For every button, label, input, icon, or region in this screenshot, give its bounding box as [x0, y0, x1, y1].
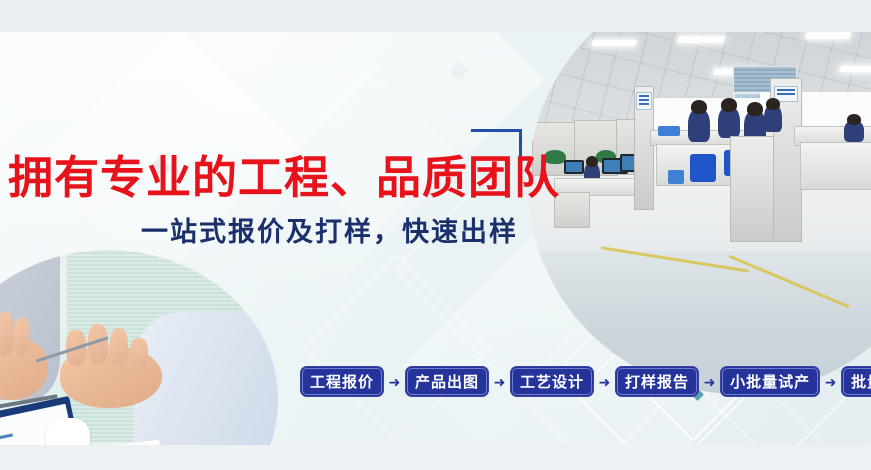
process-step-4[interactable]: 打样报告 [615, 366, 699, 397]
bottom-band [0, 445, 871, 470]
promo-banner: 拥有专业的工程、品质团队 一站式报价及打样，快速出样 工程报价 ➜ 产品出图 ➜… [0, 0, 871, 470]
office-workstations-photo [528, 32, 871, 394]
process-step-6[interactable]: 批量量产 [841, 366, 871, 397]
process-step-1[interactable]: 工程报价 [300, 366, 384, 397]
process-step-3[interactable]: 工艺设计 [510, 366, 594, 397]
flow-arrow-icon-4: ➜ [703, 375, 716, 388]
process-step-1-label: 工程报价 [310, 371, 374, 392]
process-step-3-label: 工艺设计 [520, 371, 584, 392]
business-meeting-photo [0, 250, 278, 445]
flow-arrow-icon-2: ➜ [493, 375, 506, 388]
top-band [0, 0, 871, 32]
flow-arrow-icon-3: ➜ [598, 375, 611, 388]
process-step-2-label: 产品出图 [415, 371, 479, 392]
coffee-cup [46, 418, 90, 445]
flow-arrow-icon-1: ➜ [388, 375, 401, 388]
process-step-5[interactable]: 小批量试产 [720, 366, 820, 397]
process-flow: 工程报价 ➜ 产品出图 ➜ 工艺设计 ➜ 打样报告 ➜ 小批量试产 ➜ 批量量产 [300, 366, 871, 397]
flow-arrow-icon-5: ➜ [824, 375, 837, 388]
page-subtitle: 一站式报价及打样，快速出样 [141, 213, 518, 251]
bg-diamond-2 [449, 61, 469, 81]
banner-stage: 拥有专业的工程、品质团队 一站式报价及打样，快速出样 工程报价 ➜ 产品出图 ➜… [0, 32, 871, 445]
process-step-5-label: 小批量试产 [730, 371, 810, 392]
process-step-4-label: 打样报告 [625, 371, 689, 392]
process-step-6-label: 批量量产 [851, 371, 871, 392]
bg-outline-7 [302, 254, 492, 444]
process-step-2[interactable]: 产品出图 [405, 366, 489, 397]
page-title: 拥有专业的工程、品质团队 [8, 150, 560, 206]
